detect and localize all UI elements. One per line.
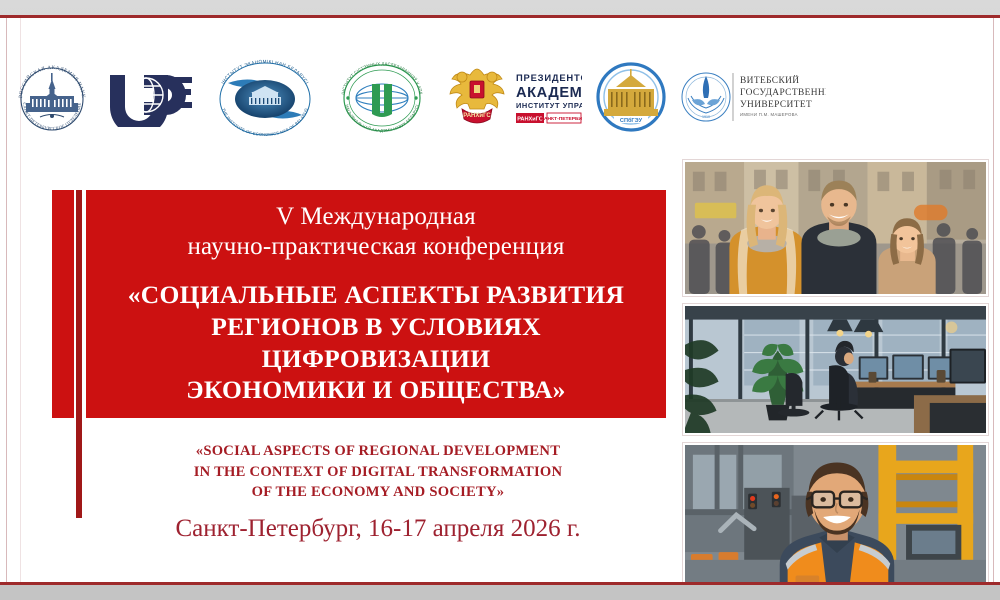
photo-industrial-worker bbox=[683, 443, 988, 585]
svg-text:ИНСТИТУТ УПРАВЛЕНИЯ: ИНСТИТУТ УПРАВЛЕНИЯ bbox=[516, 101, 582, 110]
logo-vitebsk-state-university: 1910 ВИТЕБСКИЙ ГОСУДАРСТВЕННЫЙ УНИВЕРСИТ… bbox=[680, 64, 826, 130]
title-accent-strip bbox=[52, 190, 74, 418]
logo-presidential-academy-ranepa: РАНХиГС ПРЕЗИДЕНТСКАЯ АКАДЕМИЯ ИНСТИТУТ … bbox=[440, 61, 582, 133]
presentation-screen: РОССИЙСКАЯ АКАДЕМИЯ НАУК САНКТ-ПЕТЕРБУРГ… bbox=[0, 0, 1000, 600]
svg-text:ІНСТЫТУТ СІСТЭМНЫХ ДАСЛЕДАВАНН: ІНСТЫТУТ СІСТЭМНЫХ ДАСЛЕДАВАННЯЎ У АПК bbox=[340, 61, 424, 95]
svg-text:УНИВЕРСИТЕТ: УНИВЕРСИТЕТ bbox=[740, 100, 812, 110]
frame-line-left bbox=[6, 18, 7, 582]
conference-kicker-line1: V Международная bbox=[187, 202, 564, 233]
svg-text:РАНХиГС: РАНХиГС bbox=[517, 116, 543, 122]
conference-title-box: V Международная научно-практическая конф… bbox=[86, 190, 666, 418]
conference-poster-slide: РОССИЙСКАЯ АКАДЕМИЯ НАУК САНКТ-ПЕТЕРБУРГ… bbox=[0, 15, 1000, 585]
svg-text:САНКТ-ПЕТЕРБУРГ: САНКТ-ПЕТЕРБУРГ bbox=[541, 116, 582, 122]
conference-title-line1: «СОЦИАЛЬНЫЕ АСПЕКТЫ РАЗВИТИЯ bbox=[100, 279, 652, 311]
svg-text:ГОСУДАРСТВЕННЫЙ: ГОСУДАРСТВЕННЫЙ bbox=[740, 86, 826, 98]
svg-text:ВИТЕБСКИЙ: ВИТЕБСКИЙ bbox=[740, 74, 799, 86]
conference-kicker: V Международная научно-практическая конф… bbox=[187, 202, 564, 263]
svg-text:ПРЕЗИДЕНТСКАЯ: ПРЕЗИДЕНТСКАЯ bbox=[516, 72, 582, 83]
photo-modern-office-workspace bbox=[683, 304, 988, 435]
title-accent-bar bbox=[76, 190, 82, 518]
svg-text:СПбГЭУ: СПбГЭУ bbox=[620, 117, 643, 124]
subtitle-en-line1: «SOCIAL ASPECTS OF REGIONAL DEVELOPMENT bbox=[92, 441, 664, 462]
svg-text:1910: 1910 bbox=[702, 115, 710, 119]
svg-text:АКАДЕМИЯ: АКАДЕМИЯ bbox=[516, 85, 582, 101]
svg-text:РАНХиГС: РАНХиГС bbox=[463, 113, 491, 119]
organizer-logo-row: РОССИЙСКАЯ АКАДЕМИЯ НАУК САНКТ-ПЕТЕРБУРГ… bbox=[10, 56, 890, 138]
logo-spbgeu: СПбГЭУ bbox=[592, 59, 670, 135]
subtitle-en-line2: IN THE CONTEXT OF DIGITAL TRANSFORMATION bbox=[92, 462, 664, 483]
logo-rossiyskaya-akademiya-nauk-spb: РОССИЙСКАЯ АКАДЕМИЯ НАУК САНКТ-ПЕТЕРБУРГ… bbox=[10, 59, 94, 135]
conference-title: «СОЦИАЛЬНЫЕ АСПЕКТЫ РАЗВИТИЯ РЕГИОНОВ В … bbox=[100, 279, 652, 407]
photo-family-on-city-street bbox=[683, 160, 988, 296]
conference-title-line2: РЕГИОНОВ В УСЛОВИЯХ ЦИФРОВИЗАЦИИ bbox=[100, 311, 652, 375]
conference-date-location: Санкт-Петербург, 16-17 апреля 2026 г. bbox=[92, 515, 664, 543]
frame-line-right bbox=[993, 18, 994, 582]
logo-irei-monogram bbox=[104, 67, 196, 127]
logo-institute-of-economics-nas-belarus: ІНСТЫТУТ ЭКАНОМІКІ НАН БЕЛАРУСІ THE INST… bbox=[206, 57, 324, 137]
logo-institute-of-system-research-apk: ІНСТЫТУТ СІСТЭМНЫХ ДАСЛЕДАВАННЯЎ У АПК Н… bbox=[334, 58, 430, 136]
svg-text:НАЦЫЯНАЛЬНАЙ АКАДЭМІІ НАВУК БЕ: НАЦЫЯНАЛЬНАЙ АКАДЭМІІ НАВУК БЕЛАРУСІ bbox=[344, 104, 419, 133]
svg-text:ИМЕНИ П.М. МАШЕРОВА: ИМЕНИ П.М. МАШЕРОВА bbox=[740, 112, 798, 117]
conference-kicker-line2: научно-практическая конференция bbox=[187, 232, 564, 263]
conference-title-line3: ЭКОНОМИКИ И ОБЩЕСТВА» bbox=[100, 374, 652, 406]
conference-subtitle-english: «SOCIAL ASPECTS OF REGIONAL DEVELOPMENT … bbox=[92, 441, 664, 503]
subtitle-en-line3: OF THE ECONOMY AND SOCIETY» bbox=[92, 482, 664, 503]
